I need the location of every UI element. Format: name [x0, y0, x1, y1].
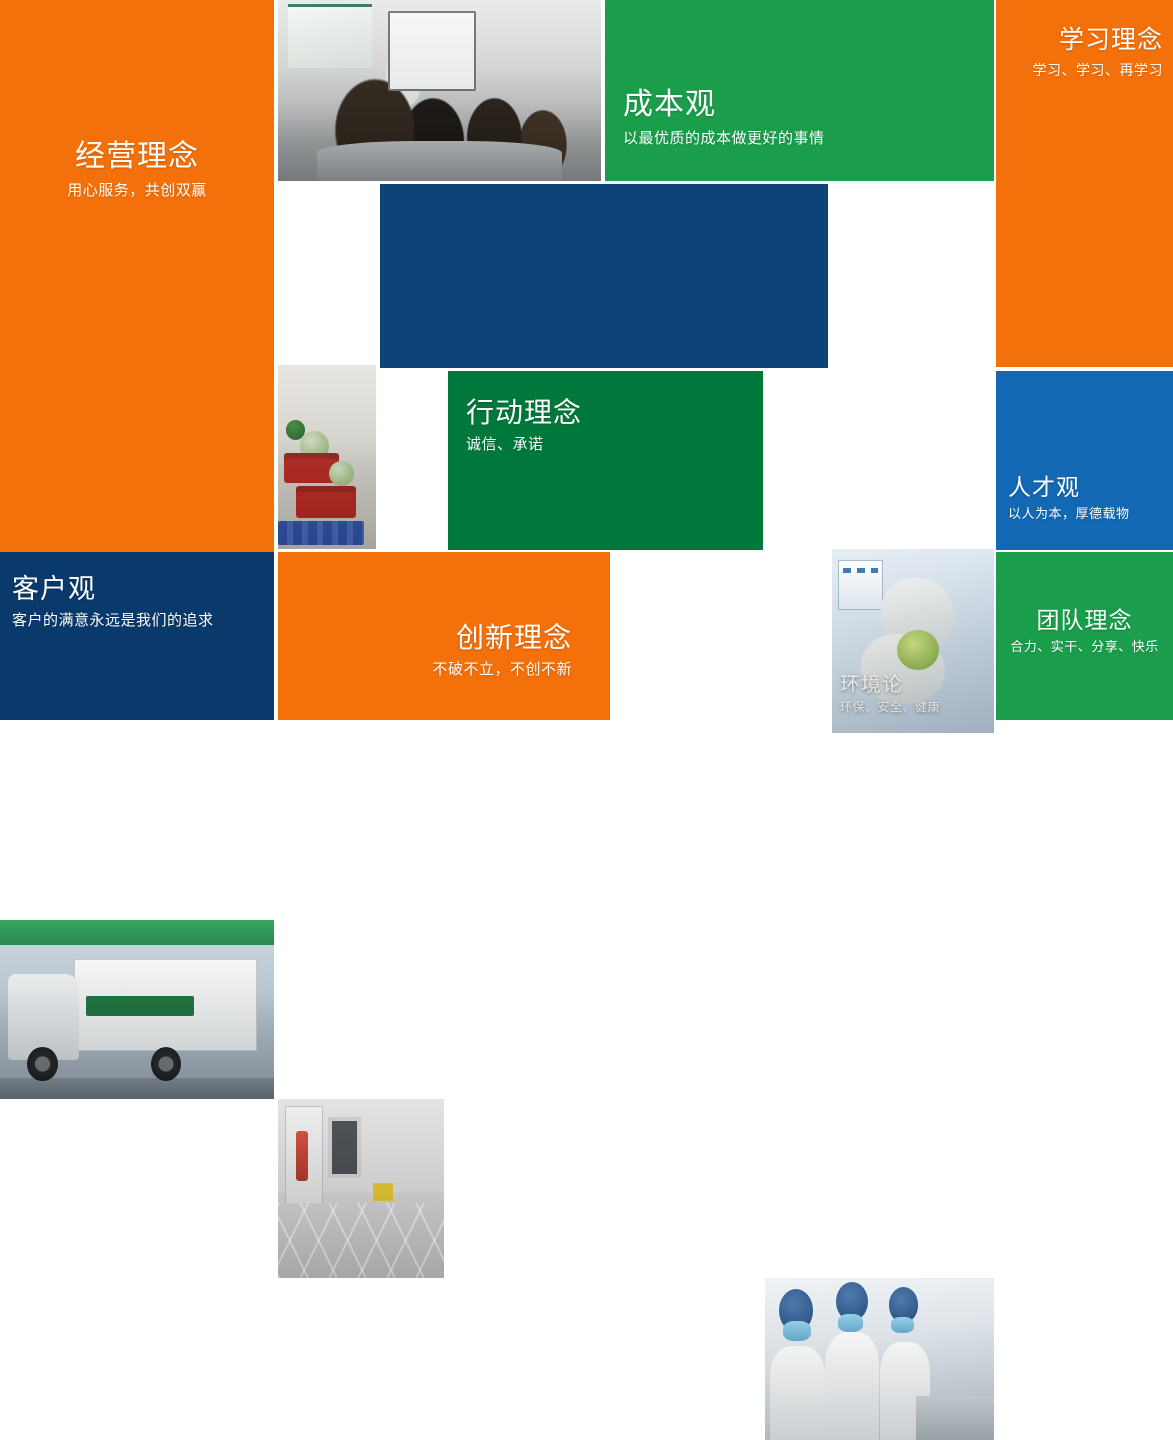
lab-coat	[770, 1346, 825, 1440]
tile-subtitle: 用心服务，共创双赢	[18, 181, 256, 201]
tile-title: 人才观	[1008, 474, 1161, 500]
tile-title: 经营理念	[18, 140, 256, 175]
tile-customer-view[interactable]: 客户观 客户的满意永远是我们的追求	[0, 552, 274, 720]
tile-goal-theory[interactable]: 目标论 做儿童安全级放心食材	[380, 184, 828, 368]
tile-title: 成本观	[623, 88, 976, 123]
wall-equipment	[328, 1117, 361, 1178]
truck-wheel	[27, 1047, 57, 1081]
tile-title: 学习理念	[1004, 26, 1163, 55]
face-mask	[783, 1321, 810, 1341]
tile-subtitle: 合力、实干、分享、快乐	[1004, 639, 1165, 656]
truck-wheel	[151, 1047, 181, 1081]
photo-lab-gloves-lettuce: 环境论 环保、安全、健康	[832, 549, 994, 733]
philosophy-wall-board: 经营理念 用心服务，共创双赢 成本观 以最优质的成本做更好的事情 学习理念 学习…	[0, 0, 1173, 720]
tile-subtitle: 环保、安全、健康	[840, 700, 986, 716]
tile-talent-view[interactable]: 人才观 以人为本，厚德载物	[996, 371, 1173, 550]
tile-title: 客户观	[12, 574, 262, 605]
red-crate	[296, 486, 357, 517]
tile-title: 团队理念	[1004, 607, 1165, 633]
tile-subtitle: 学习、学习、再学习	[1004, 61, 1163, 79]
photo-cold-storage-kitchen	[278, 1099, 444, 1278]
meeting-table	[317, 141, 562, 181]
tile-environment-theory-overlay: 环境论 环保、安全、健康	[832, 674, 994, 716]
tile-subtitle: 诚信、承诺	[466, 435, 745, 455]
blue-pallet	[278, 521, 364, 545]
tile-team-philosophy[interactable]: 团队理念 合力、实干、分享、快乐	[996, 552, 1173, 720]
cabbage-bag	[329, 461, 354, 487]
photo-lab-inspection	[765, 1278, 994, 1440]
yellow-crate	[373, 1183, 393, 1201]
lab-coat	[825, 1332, 880, 1440]
face-mask	[838, 1314, 863, 1332]
tile-title: 创新理念	[290, 622, 572, 654]
lab-counter	[916, 1396, 994, 1440]
truck-slogan-band	[86, 996, 194, 1016]
red-bin	[296, 1131, 308, 1181]
whiteboard	[388, 11, 476, 91]
photo-delivery-truck	[0, 920, 274, 1099]
face-mask	[891, 1317, 914, 1333]
photo-vegetable-crates	[278, 365, 376, 549]
truck-box-body	[74, 959, 257, 1051]
tile-subtitle: 客户的满意永远是我们的追求	[12, 611, 262, 631]
tile-title: 环境论	[840, 674, 986, 697]
projector-screen	[288, 4, 372, 69]
tile-title: 行动理念	[466, 397, 745, 429]
green-banner	[0, 920, 274, 945]
test-strip-tray	[838, 560, 882, 610]
tiled-floor	[278, 1203, 444, 1278]
tile-subtitle: 不破不立，不创不新	[290, 660, 572, 680]
tile-subtitle: 以人为本，厚德载物	[1008, 506, 1161, 523]
tile-subtitle: 以最优质的成本做更好的事情	[623, 129, 976, 149]
tile-innovation-philosophy[interactable]: 创新理念 不破不立，不创不新	[278, 552, 610, 720]
lettuce-sample	[897, 630, 939, 670]
tile-action-philosophy[interactable]: 行动理念 诚信、承诺	[448, 371, 763, 550]
tile-learning-philosophy[interactable]: 学习理念 学习、学习、再学习	[996, 0, 1173, 367]
photo-meeting-training	[278, 0, 601, 181]
tile-cost-view[interactable]: 成本观 以最优质的成本做更好的事情	[605, 0, 994, 181]
